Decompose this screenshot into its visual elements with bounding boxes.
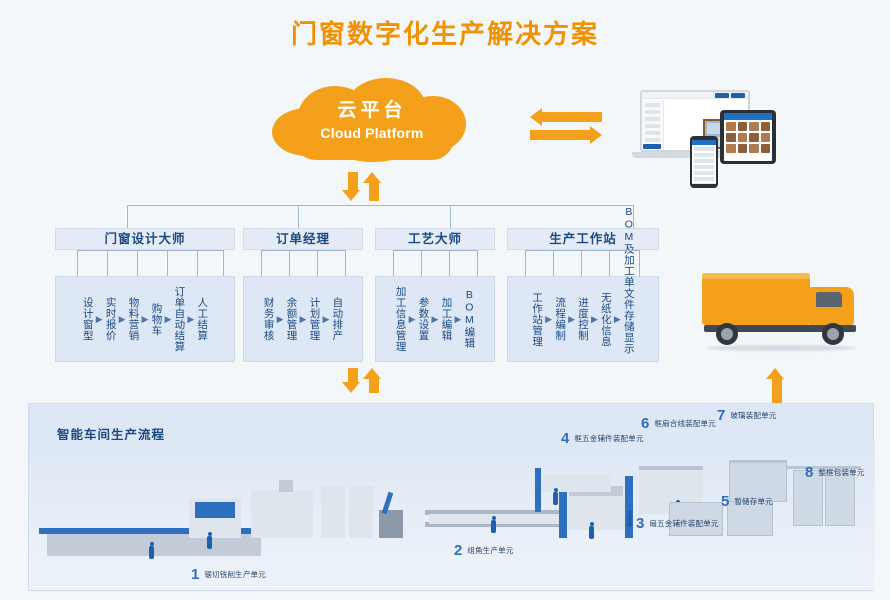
- module-item[interactable]: 加工编辑: [440, 297, 452, 341]
- laptop-sidebar: [642, 100, 664, 150]
- factory-truck-arrow-up: [770, 368, 784, 405]
- module-item[interactable]: 人工结算: [196, 297, 208, 341]
- laptop-topbar: [642, 92, 748, 99]
- module-item[interactable]: 流程编制: [554, 297, 566, 341]
- module-header-3[interactable]: 工艺大师: [375, 228, 495, 250]
- device-mockups: [630, 88, 780, 168]
- unit-label-5: 5 暂储存单元: [721, 493, 773, 510]
- module-item[interactable]: 物料营销: [128, 297, 140, 341]
- delivery-truck: [700, 265, 870, 360]
- module-body-3: 加工信息管理 ▶ 参数设置 ▶ 加工编辑 ▶ BOM编辑: [375, 276, 495, 362]
- tablet-device: [720, 110, 776, 164]
- unit-name: 玻璃装配单元: [730, 410, 776, 421]
- chevron-right-icon: ▶: [545, 314, 552, 325]
- module-item[interactable]: 实时报价: [105, 297, 117, 341]
- machine-stack-a: [321, 486, 345, 538]
- module-item[interactable]: 计划管理: [308, 297, 320, 341]
- machine-stack-b: [349, 486, 373, 538]
- chevron-right-icon: ▶: [322, 314, 329, 325]
- worker-figure: [149, 546, 154, 559]
- unit-name: 框扇合线装配单元: [654, 418, 716, 429]
- factory-floor: [29, 440, 875, 590]
- unit-number: 5: [721, 493, 729, 510]
- unit-label-1: 1 锯切铣削生产单元: [191, 566, 266, 583]
- robot-arm-base: [379, 510, 403, 538]
- unit-label-3: 3 扇五金辅件装配单元: [636, 515, 719, 532]
- module-body-1: 设计窗型 ▶ 实时报价 ▶ 物料营销 ▶ 购物车 ▶ 订单自动结算 ▶ 人工结算: [55, 276, 235, 362]
- module-body-2: 财务审核 ▶ 余额管理 ▶ 计划管理 ▶ 自动排产: [243, 276, 363, 362]
- chevron-right-icon: ▶: [591, 314, 598, 325]
- chevron-right-icon: ▶: [568, 314, 575, 325]
- module-item[interactable]: 加工信息管理: [395, 286, 407, 352]
- cloud-label-group: 云平台 Cloud Platform: [272, 100, 472, 141]
- module-item-line: BOM及加工单: [623, 206, 635, 288]
- arrow-up-icon: [367, 368, 381, 393]
- unit-name: 整框包装单元: [818, 467, 864, 478]
- cloud-modules-arrows: [346, 172, 381, 201]
- arrow-up-icon: [367, 172, 381, 201]
- cloud-platform: 云平台 Cloud Platform: [272, 78, 472, 160]
- modules-factory-arrows: [346, 368, 381, 393]
- module-item[interactable]: 财务审核: [263, 297, 275, 341]
- chevron-right-icon: ▶: [454, 314, 461, 325]
- page-title: 门窗数字化生产解决方案: [0, 14, 890, 51]
- arrow-down-icon: [346, 368, 360, 393]
- module-body-4: 工作站管理 ▶ 流程编制 ▶ 进度控制 ▶ 无纸化信息 ▶ 文件存储显示BOM及…: [507, 276, 659, 362]
- module-item[interactable]: 订单自动结算: [173, 286, 185, 352]
- module-item[interactable]: 无纸化信息: [600, 292, 612, 347]
- worker-figure: [207, 536, 212, 549]
- unit-label-7: 7 玻璃装配单元: [717, 407, 777, 424]
- module-item-line: 文件存储显示: [623, 288, 635, 354]
- arrow-left-icon: [530, 112, 602, 122]
- chevron-right-icon: ▶: [409, 314, 416, 325]
- unit-number: 6: [641, 415, 649, 432]
- truck-window: [816, 292, 842, 307]
- module-item[interactable]: 工作站管理: [531, 292, 543, 347]
- worker-figure: [491, 520, 496, 533]
- cloud-label-en: Cloud Platform: [272, 125, 472, 141]
- chevron-right-icon: ▶: [187, 314, 194, 325]
- module-header-2[interactable]: 订单经理: [243, 228, 363, 250]
- unit-label-2: 2 组角生产单元: [454, 542, 514, 559]
- unit-number: 1: [191, 566, 199, 583]
- module-item[interactable]: BOM编辑: [463, 289, 475, 349]
- chevron-right-icon: ▶: [142, 314, 149, 325]
- module-item[interactable]: 进度控制: [577, 297, 589, 341]
- factory-panel: 智能车间生产流程: [28, 403, 874, 591]
- solution-diagram: 门窗数字化生产解决方案 云平台 Cloud Platform: [0, 0, 890, 600]
- cloud-devices-arrows: [530, 112, 602, 140]
- unit-label-8: 8 整框包装单元: [805, 464, 865, 481]
- module-item[interactable]: 自动排产: [331, 297, 343, 341]
- worker-figure: [627, 514, 632, 527]
- unit-name: 暂储存单元: [734, 496, 773, 507]
- assembly-table: [567, 496, 625, 530]
- machine-mill-head: [279, 480, 293, 492]
- worker-figure: [553, 492, 558, 505]
- module-item[interactable]: 购物车: [150, 303, 162, 336]
- cloud-label-cn: 云平台: [272, 100, 472, 122]
- module-item[interactable]: 余额管理: [286, 297, 298, 341]
- unit-name: 锯切铣削生产单元: [204, 569, 266, 580]
- chevron-right-icon: ▶: [432, 314, 439, 325]
- unit-number: 3: [636, 515, 644, 532]
- module-header-1[interactable]: 门窗设计大师: [55, 228, 235, 250]
- unit-number: 2: [454, 542, 462, 559]
- phone-device: [690, 136, 718, 188]
- module-item[interactable]: 参数设置: [418, 297, 430, 341]
- unit-number: 8: [805, 464, 813, 481]
- chevron-right-icon: ▶: [96, 314, 103, 325]
- module-item[interactable]: 设计窗型: [82, 297, 94, 341]
- assembly-table: [541, 474, 611, 492]
- chevron-right-icon: ▶: [277, 314, 284, 325]
- chevron-right-icon: ▶: [119, 314, 126, 325]
- unit-number: 7: [717, 407, 725, 424]
- unit-name: 扇五金辅件装配单元: [649, 518, 718, 529]
- unit-label-6: 6 框扇合线装配单元: [641, 415, 716, 432]
- unit-name: 组角生产单元: [467, 545, 513, 556]
- arrow-right-icon: [530, 130, 602, 140]
- worker-figure: [589, 526, 594, 539]
- unit-label-4: 4 框五金辅件装配单元: [561, 430, 644, 447]
- machine-mill: [251, 490, 313, 538]
- unit-number: 4: [561, 430, 569, 447]
- unit-name: 框五金辅件装配单元: [574, 433, 643, 444]
- module-item[interactable]: 文件存储显示BOM及加工单: [623, 284, 635, 354]
- frame-post: [625, 476, 633, 538]
- module-header-4[interactable]: 生产工作站: [507, 228, 659, 250]
- truck-wheel: [716, 323, 738, 345]
- chevron-right-icon: ▶: [164, 314, 171, 325]
- arrow-down-icon: [346, 172, 360, 201]
- machine-saw-panel: [195, 502, 235, 518]
- chevron-right-icon: ▶: [614, 314, 621, 325]
- chevron-right-icon: ▶: [300, 314, 307, 325]
- truck-wheel: [822, 323, 844, 345]
